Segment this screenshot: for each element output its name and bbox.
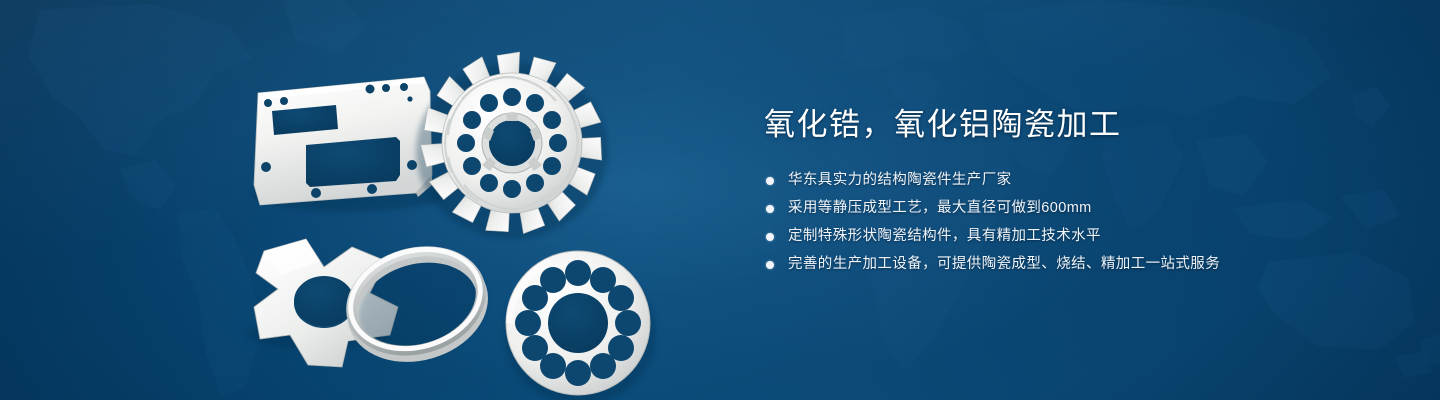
banner-bullet-list: 华东具实力的结构陶瓷件生产厂家 采用等静压成型工艺，最大直径可做到600mm 定…: [766, 170, 1384, 275]
bullet-dot-icon: [766, 205, 774, 213]
bullet-item: 完善的生产加工设备，可提供陶瓷成型、烧结、精加工一站式服务: [766, 254, 1384, 275]
part-ceramic-disc: [504, 251, 656, 400]
ceramic-products-image: [220, 35, 690, 380]
part-ceramic-impeller: [416, 47, 608, 239]
bullet-text: 定制特殊形状陶瓷结构件，具有精加工技术水平: [788, 228, 1101, 244]
bullet-text: 采用等静压成型工艺，最大直径可做到600mm: [788, 200, 1092, 216]
promo-banner: 氧化锆，氧化铝陶瓷加工 华东具实力的结构陶瓷件生产厂家 采用等静压成型工艺，最大…: [0, 0, 1440, 400]
bullet-item: 华东具实力的结构陶瓷件生产厂家: [766, 170, 1384, 191]
bullet-dot-icon: [766, 177, 774, 185]
bullet-dot-icon: [766, 233, 774, 241]
bullet-text: 完善的生产加工设备，可提供陶瓷成型、烧结、精加工一站式服务: [788, 256, 1220, 272]
banner-headline: 氧化锆，氧化铝陶瓷加工: [764, 104, 1384, 146]
banner-copy: 氧化锆，氧化铝陶瓷加工 华东具实力的结构陶瓷件生产厂家 采用等静压成型工艺，最大…: [764, 104, 1384, 282]
bullet-dot-icon: [766, 261, 774, 269]
bullet-item: 定制特殊形状陶瓷结构件，具有精加工技术水平: [766, 226, 1384, 247]
bullet-item: 采用等静压成型工艺，最大直径可做到600mm: [766, 198, 1384, 219]
bullet-text: 华东具实力的结构陶瓷件生产厂家: [788, 172, 1012, 188]
